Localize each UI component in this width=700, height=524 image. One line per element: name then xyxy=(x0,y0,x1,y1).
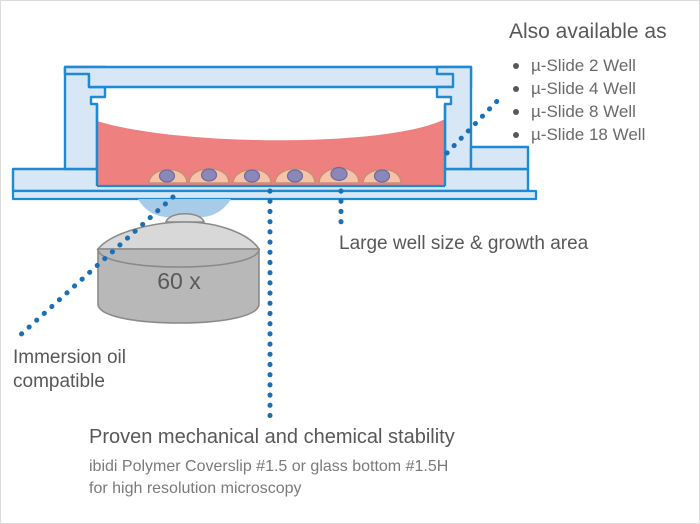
cell-nucleus xyxy=(202,169,217,181)
also-available-title: Also available as xyxy=(509,19,699,44)
proven-stability-block: Proven mechanical and chemical stability… xyxy=(89,424,649,500)
cell-nucleus xyxy=(375,170,390,182)
magnification-label: 60 x xyxy=(157,268,201,294)
cell-nucleus xyxy=(160,170,175,182)
figure-canvas: 60 x Also available as µ-Slide 2 Well µ-… xyxy=(0,0,700,524)
proven-sub-line2: for high resolution microscopy xyxy=(89,478,649,500)
proven-stability-title: Proven mechanical and chemical stability xyxy=(89,424,649,450)
list-item: µ-Slide 4 Well xyxy=(509,77,699,100)
coverslip-layer xyxy=(13,191,536,199)
large-well-label: Large well size & growth area xyxy=(339,233,588,255)
cell-nucleus xyxy=(331,168,347,181)
proven-sub-line1: ibidi Polymer Coverslip #1.5 or glass bo… xyxy=(89,456,649,478)
immersion-oil-line1: Immersion oil xyxy=(13,346,126,370)
slide-right-shoulder xyxy=(471,147,528,169)
also-available-block: Also available as µ-Slide 2 Well µ-Slide… xyxy=(509,19,699,146)
proven-stability-subtext: ibidi Polymer Coverslip #1.5 or glass bo… xyxy=(89,456,649,500)
list-item: µ-Slide 18 Well xyxy=(509,123,699,146)
cell-nucleus xyxy=(245,170,260,182)
slide-lid-beam xyxy=(65,67,471,87)
list-item: µ-Slide 8 Well xyxy=(509,100,699,123)
list-item: µ-Slide 2 Well xyxy=(509,54,699,77)
cell-nucleus xyxy=(288,170,303,182)
immersion-oil-label: Immersion oil compatible xyxy=(13,346,126,394)
immersion-oil-line2: compatible xyxy=(13,370,126,394)
also-available-list: µ-Slide 2 Well µ-Slide 4 Well µ-Slide 8 … xyxy=(509,54,699,146)
